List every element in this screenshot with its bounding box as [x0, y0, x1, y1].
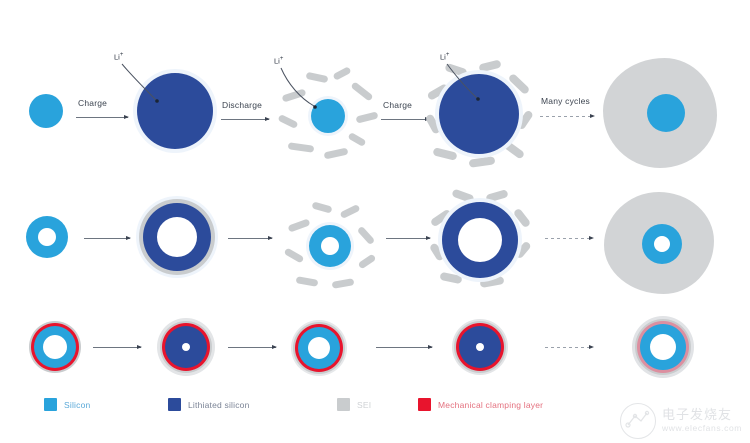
hollow-void — [38, 228, 56, 246]
row3-stage-pristine-clamped-hollow-shell — [29, 321, 81, 373]
arrow-row3-step3 — [376, 347, 432, 348]
row1-stage-pristine-silicon-particle — [29, 94, 63, 128]
sei-fragment — [358, 254, 377, 270]
row1-stage-thick-sei-encapsulated-particle — [603, 58, 717, 168]
hollow-void — [43, 335, 67, 359]
sei-fragment — [324, 148, 349, 160]
arrow-charge-1 — [76, 117, 128, 118]
legend-item-sei: SEI — [337, 398, 371, 411]
arrow-many-cycles-row1 — [540, 116, 594, 117]
row2-stage-lithiated-hollow-shell — [136, 196, 218, 278]
watermark-text: 电子发烧友 www.elecfans.com — [662, 409, 742, 434]
hollow-void — [321, 237, 339, 255]
arrow-row2-step3 — [386, 238, 430, 239]
arrow-charge-2 — [381, 119, 429, 120]
watermark-logo-icon — [620, 403, 656, 439]
silicon-core — [29, 94, 63, 128]
process-label-charge-2: Charge — [383, 100, 412, 110]
sei-fragment — [296, 276, 319, 287]
arrow-many-cycles-row3 — [545, 347, 593, 348]
legend-swatch-sei — [337, 398, 350, 411]
sei-fragment — [357, 226, 376, 246]
li-ion-pointer-1 — [118, 62, 166, 108]
sei-fragment — [288, 142, 315, 153]
row2-stage-relithiated-hollow-shell-in-sei — [428, 190, 532, 290]
row3-stage-relithiated-clamped-shell — [452, 319, 508, 375]
legend-item-silicon: Silicon — [44, 398, 90, 411]
arrow-row3-step2 — [228, 347, 276, 348]
sei-fragment — [350, 81, 373, 101]
silicon-core — [647, 94, 685, 132]
arrow-many-cycles-row2 — [545, 238, 593, 239]
arrow-row2-step2 — [228, 238, 272, 239]
process-label-charge-1: Charge — [78, 98, 107, 108]
li-ion-label-3: Li+ — [440, 52, 449, 62]
hollow-void — [654, 236, 670, 252]
diagram-canvas: Charge Li+ Discharge Li+ Charge — [0, 0, 750, 443]
sei-fragment — [469, 156, 496, 168]
hollow-void — [157, 217, 197, 257]
row2-stage-pristine-hollow-silicon-shell — [26, 216, 68, 258]
row3-stage-stable-clamped-shell-after-cycling — [632, 316, 694, 378]
watermark-url: www.elecfans.com — [662, 424, 742, 434]
process-label-many-cycles: Many cycles — [541, 96, 590, 106]
sei-fragment — [347, 132, 366, 147]
sei-fragment — [284, 247, 305, 263]
watermark-brand: 电子发烧友 — [662, 409, 742, 424]
li-ion-label-1: Li+ — [114, 52, 123, 62]
row3-stage-lithiated-clamped-shell — [157, 318, 215, 376]
sei-fragment — [332, 278, 355, 289]
arrow-discharge-1 — [221, 119, 269, 120]
sei-fragment — [332, 66, 351, 81]
row3-stage-delithiated-clamped-shell — [291, 320, 347, 376]
row2-stage-delithiated-hollow-shell-with-sei-fragments — [282, 198, 378, 294]
sei-fragment — [287, 218, 310, 232]
watermark: 电子发烧友 www.elecfans.com — [620, 403, 742, 439]
li-ion-pointer-2 — [278, 66, 324, 110]
li-ion-pointer-3 — [444, 62, 486, 104]
legend-item-lithiated-silicon: Lithiated silicon — [168, 398, 250, 411]
li-ion-label-2: Li+ — [274, 56, 283, 66]
row2-stage-thick-sei-encapsulated-hollow-shell — [604, 192, 714, 294]
legend-item-mechanical-clamping-layer: Mechanical clamping layer — [418, 398, 543, 411]
legend-swatch-silicon — [44, 398, 57, 411]
hollow-void — [458, 218, 502, 262]
sei-fragment — [355, 111, 378, 123]
sei-fragment — [277, 114, 298, 129]
legend-swatch-mechanical-clamping-layer — [418, 398, 431, 411]
legend-label-silicon: Silicon — [64, 400, 90, 410]
legend-label-sei: SEI — [357, 400, 371, 410]
hollow-void — [308, 337, 330, 359]
legend-label-mechanical-clamping-layer: Mechanical clamping layer — [438, 400, 543, 410]
legend-swatch-lithiated-silicon — [168, 398, 181, 411]
arrow-row2-step1 — [84, 238, 130, 239]
sei-fragment — [311, 201, 332, 213]
hollow-void — [182, 343, 190, 351]
legend-label-lithiated-silicon: Lithiated silicon — [188, 400, 250, 410]
arrow-row3-step1 — [93, 347, 141, 348]
process-label-discharge-1: Discharge — [222, 100, 262, 110]
sei-fragment — [339, 204, 360, 219]
hollow-void — [650, 334, 676, 360]
hollow-void — [476, 343, 484, 351]
